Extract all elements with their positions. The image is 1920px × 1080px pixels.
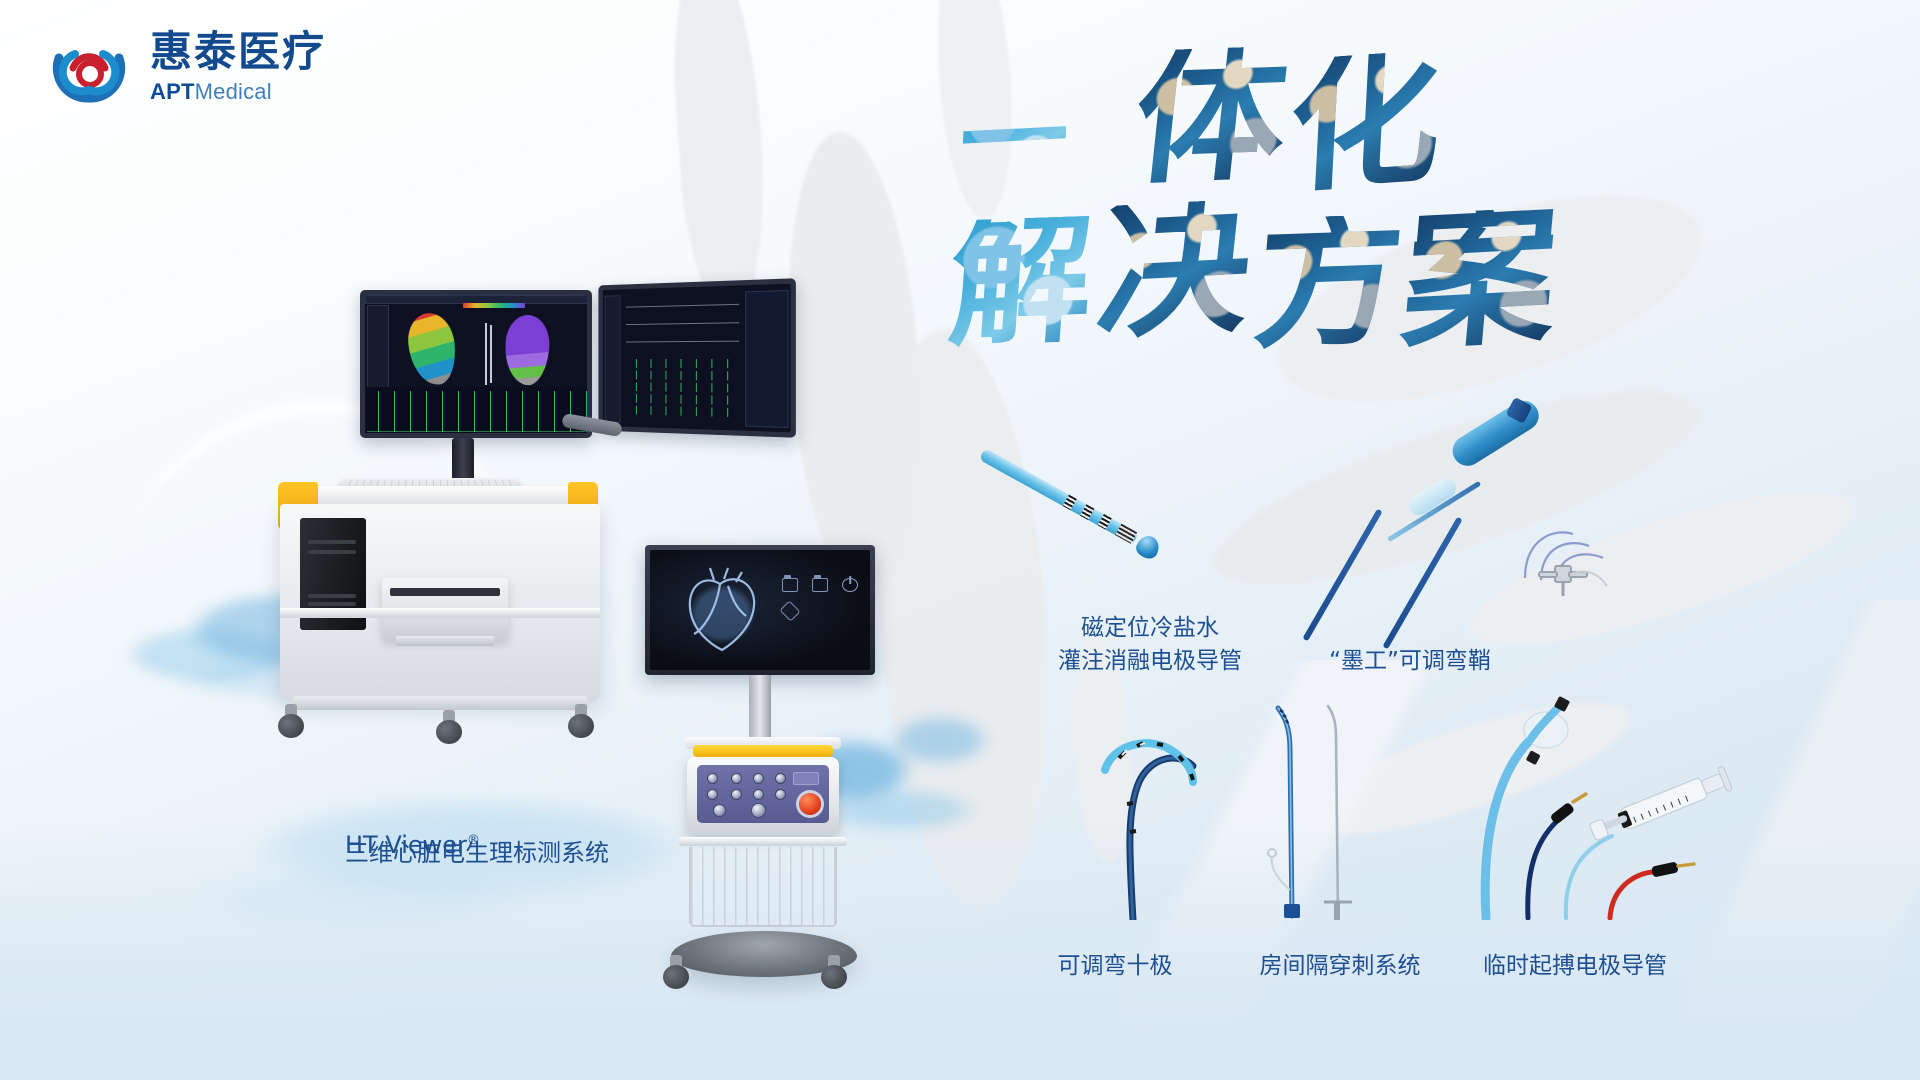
display-generator-cart	[645, 545, 915, 1035]
brand-name-en-secondary: Medical	[195, 79, 272, 104]
poster-canvas: 惠泰医疗 APTMedical 一 体 化 解 决 方 案	[0, 0, 1920, 1080]
caster-wheel	[278, 704, 304, 738]
headline-char-6: 方	[1250, 213, 1408, 349]
mapping-monitor-screen	[365, 295, 587, 433]
pacing-catheter-image	[1470, 690, 1800, 920]
cart-base	[292, 696, 588, 710]
cart-worktop	[290, 486, 590, 506]
heart-wireframe-icon	[670, 564, 774, 656]
rainbow-activation-map	[405, 311, 458, 387]
mapping-waveform-pane	[365, 387, 587, 433]
hemostasis-valve-icon	[1529, 548, 1609, 608]
sheath-end-cap	[1506, 397, 1533, 424]
caster-wheel	[663, 955, 689, 989]
cart-shelf-2	[679, 837, 847, 846]
product-label-decapolar-catheter: 可调弯十极	[1015, 950, 1215, 983]
catheter-tip-electrode	[1133, 532, 1162, 561]
steerable-sheath-image	[1395, 440, 1625, 630]
catheter-icon	[485, 323, 487, 385]
activation-colorbar	[463, 303, 525, 308]
brand-logo: 惠泰医疗 APTMedical	[46, 24, 326, 110]
mapping-monitor	[360, 290, 592, 438]
product-label-transseptal-system: 房间隔穿刺系统	[1225, 950, 1455, 983]
recording-monitor-screen	[603, 284, 791, 433]
brand-name-en-primary: APT	[150, 79, 195, 104]
brand-wordmark: 惠泰医疗 APTMedical	[150, 31, 326, 103]
catheter-icon	[490, 325, 492, 383]
new-folder-icon[interactable]	[782, 578, 798, 592]
headline-char-7: 案	[1398, 206, 1563, 351]
caster-wheel	[821, 955, 847, 989]
transseptal-system-image	[1250, 690, 1370, 920]
product-label-pacing-catheter: 临时起搏电极导管	[1440, 950, 1710, 983]
headline-calligraphy: 一 体 化 解 决 方 案	[960, 40, 1620, 360]
recording-monitor	[598, 278, 795, 438]
open-folder-icon[interactable]	[812, 578, 828, 592]
recording-channel-list	[745, 290, 788, 428]
generator-display-chip	[793, 772, 819, 785]
headline-char-3: 化	[1286, 49, 1444, 194]
apt-medical-logo-icon	[46, 24, 132, 110]
ht-viewer-name-en-text: HT Viewer	[345, 831, 467, 859]
red-emergency-button[interactable]	[799, 793, 821, 815]
ht-viewer-name-en: HT Viewer®	[345, 828, 480, 863]
product-label-steerable-sheath: “墨工”可调弯鞘	[1285, 645, 1535, 678]
product-label-ablation-catheter: 磁定位冷盐水 灌注消融电极导管	[1030, 612, 1270, 679]
power-icon[interactable]	[842, 578, 858, 592]
heart-display-monitor	[645, 545, 875, 675]
ablation-catheter-image	[985, 448, 1165, 568]
expand-icon[interactable]	[779, 600, 800, 621]
rf-generator-panel	[697, 765, 829, 823]
monitor-stand	[452, 438, 474, 482]
brand-name-en: APTMedical	[150, 81, 326, 103]
headline-char-5: 决	[1092, 198, 1257, 341]
sheath-handle	[1447, 395, 1544, 471]
storage-basket	[689, 847, 837, 927]
purple-voltage-map	[502, 313, 552, 387]
cart-handle-yellow[interactable]	[693, 745, 833, 757]
intracardiac-traces	[624, 357, 741, 425]
headline-char-1: 一	[957, 89, 1071, 192]
headline-char-4: 解	[945, 216, 1096, 349]
trademark-symbol: ®	[467, 833, 480, 848]
headline-char-2: 体	[1129, 45, 1294, 185]
catheter-shaft	[979, 448, 1139, 545]
brand-name-zh: 惠泰医疗	[150, 31, 326, 73]
rf-generator	[687, 757, 839, 835]
surface-ecg-traces	[624, 294, 741, 354]
sheath-dilator-rod	[1302, 509, 1382, 642]
cart-shelf	[280, 608, 600, 618]
caster-wheel	[436, 710, 462, 744]
recording-side-panel	[605, 295, 621, 422]
heart-display-screen	[650, 550, 870, 670]
ht-viewer-label-group: HT Viewer® 三维心脏电生理标测系统	[345, 828, 609, 871]
heart-display-controls	[782, 578, 858, 618]
caster-wheel	[568, 704, 594, 738]
decapolar-catheter-image	[1075, 700, 1235, 920]
